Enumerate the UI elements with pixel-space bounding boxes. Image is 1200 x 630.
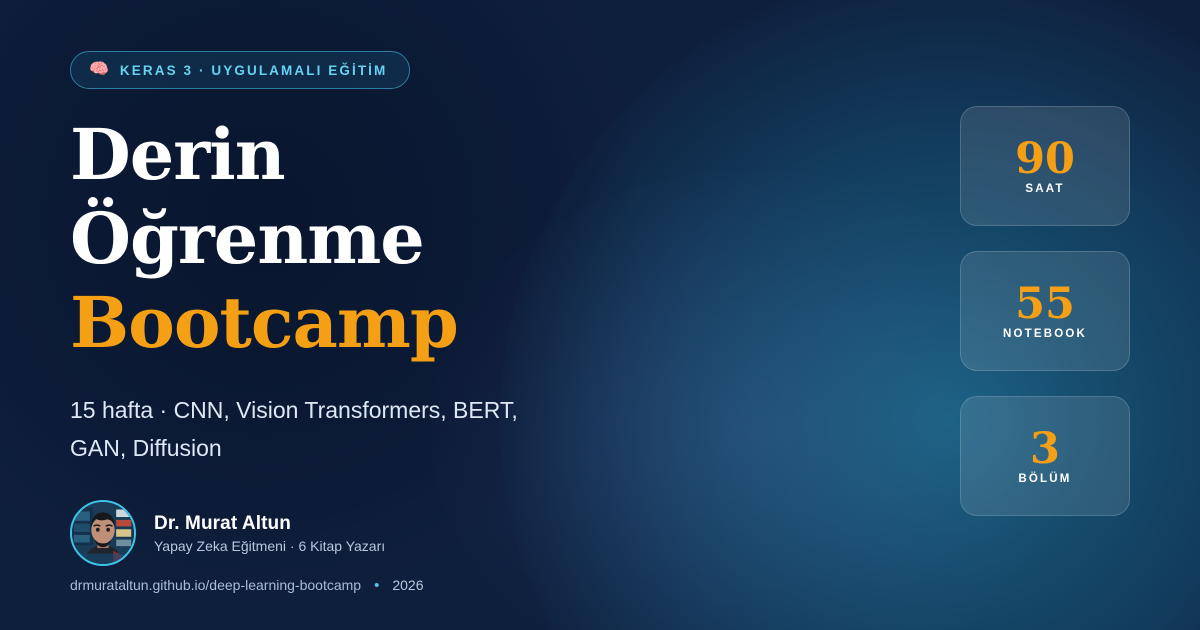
- stat-label: BÖLÜM: [1018, 473, 1071, 485]
- stat-card-hours: 90 SAAT: [960, 106, 1130, 226]
- stat-value: 3: [1030, 427, 1060, 472]
- footer-meta: drmurataltun.github.io/deep-learning-boo…: [70, 577, 424, 593]
- title-line-3: Bootcamp: [70, 281, 458, 365]
- stat-value: 55: [1015, 282, 1075, 327]
- stat-value: 90: [1015, 137, 1075, 182]
- avatar-illustration: [72, 502, 134, 564]
- author-block: Dr. Murat Altun Yapay Zeka Eğitmeni · 6 …: [70, 500, 385, 566]
- separator-dot: •: [374, 578, 379, 593]
- stats-panel: 90 SAAT 55 NOTEBOOK 3 BÖLÜM: [960, 106, 1130, 516]
- title-line-1: Derin: [70, 113, 458, 197]
- stat-label: SAAT: [1025, 183, 1064, 195]
- page-subtitle: 15 hafta · CNN, Vision Transformers, BER…: [70, 391, 690, 467]
- subtitle-line-1: 15 hafta · CNN, Vision Transformers, BER…: [70, 391, 690, 429]
- page-title: Derin Öğrenme Bootcamp: [70, 113, 458, 365]
- title-line-2: Öğrenme: [70, 197, 458, 281]
- promo-banner: 🧠 KERAS 3 · UYGULAMALI EĞİTİM Derin Öğre…: [0, 0, 1200, 630]
- stat-label: NOTEBOOK: [1003, 328, 1087, 340]
- course-badge[interactable]: 🧠 KERAS 3 · UYGULAMALI EĞİTİM: [70, 51, 410, 89]
- brain-icon: 🧠: [89, 62, 109, 78]
- course-url[interactable]: drmurataltun.github.io/deep-learning-boo…: [70, 577, 361, 593]
- course-year: 2026: [392, 577, 423, 593]
- avatar: [70, 500, 136, 566]
- subtitle-line-2: GAN, Diffusion: [70, 429, 690, 467]
- author-role: Yapay Zeka Eğitmeni · 6 Kitap Yazarı: [154, 538, 385, 554]
- stat-card-notebooks: 55 NOTEBOOK: [960, 251, 1130, 371]
- stat-card-sections: 3 BÖLÜM: [960, 396, 1130, 516]
- author-name: Dr. Murat Altun: [154, 513, 385, 535]
- author-meta: Dr. Murat Altun Yapay Zeka Eğitmeni · 6 …: [154, 513, 385, 554]
- badge-label: KERAS 3 · UYGULAMALI EĞİTİM: [120, 63, 387, 78]
